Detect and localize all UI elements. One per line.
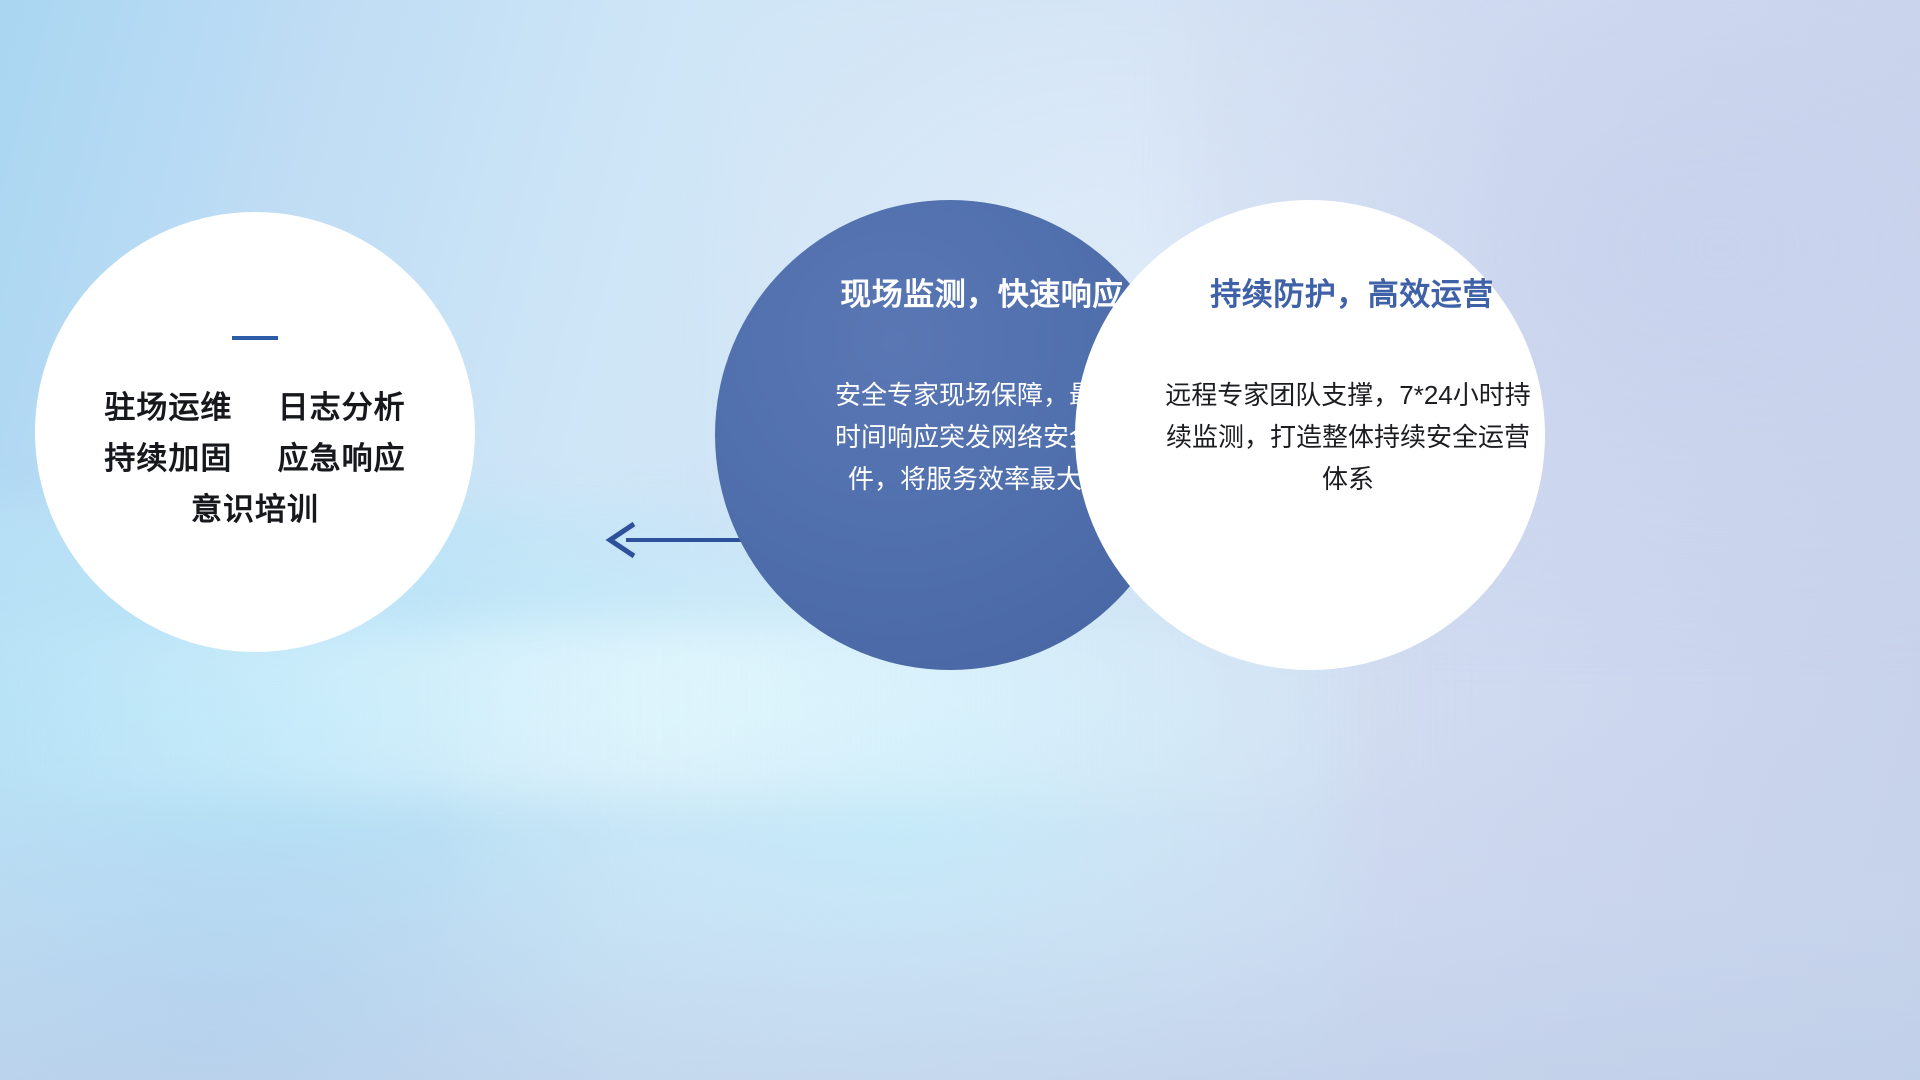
continuous-protection-body: 远程专家团队支撑，7*24小时持续监测，打造整体持续安全运营体系 <box>1162 374 1534 500</box>
capability-list: 驻场运维 日志分析 持续加固 应急响应 意识培训 <box>104 392 405 525</box>
capability-label-yingjixiangying: 应急响应 <box>278 441 406 476</box>
capability-row-2: 持续加固 应急响应 <box>104 443 405 474</box>
capability-label-chixujiagu: 持续加固 <box>104 441 232 476</box>
capability-label-zhuchangyunwei: 驻场运维 <box>104 390 232 425</box>
left-capabilities-circle[interactable]: 驻场运维 日志分析 持续加固 应急响应 意识培训 <box>35 212 475 652</box>
slide-canvas: 驻场运维 日志分析 持续加固 应急响应 意识培训 现场监测，快速响应 安全专家现… <box>0 0 1920 1080</box>
horizontal-dash-icon <box>232 336 278 340</box>
capability-row-3: 意识培训 <box>191 494 319 525</box>
background-bottom-fade <box>0 713 1920 1080</box>
continuous-protection-circle[interactable]: 持续防护，高效运营 远程专家团队支撑，7*24小时持续监测，打造整体持续安全运营… <box>1075 200 1545 670</box>
capability-label-rizhifenxi: 日志分析 <box>278 390 406 425</box>
capability-label-yishipeixun: 意识培训 <box>191 492 319 527</box>
continuous-protection-title: 持续防护，高效运营 <box>1210 278 1494 312</box>
capability-row-1: 驻场运维 日志分析 <box>104 392 405 423</box>
onsite-monitoring-title: 现场监测，快速响应 <box>840 278 1124 312</box>
left-circle-content: 驻场运维 日志分析 持续加固 应急响应 意识培训 <box>104 336 405 525</box>
